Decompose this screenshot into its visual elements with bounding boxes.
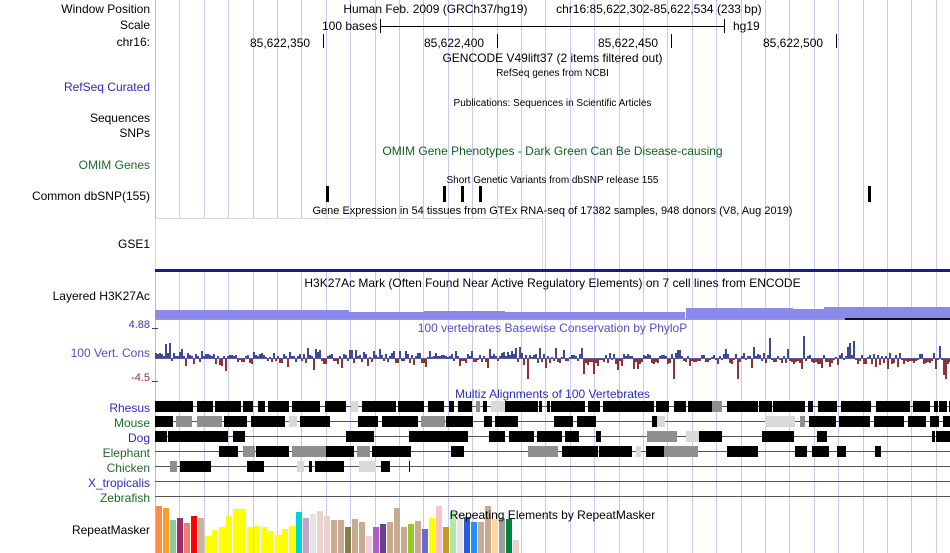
phylop-positive-bar bbox=[351, 350, 353, 358]
multiz-align-block bbox=[795, 446, 807, 457]
gtex-tissue-bar[interactable] bbox=[212, 530, 218, 553]
multiz-align-block bbox=[358, 416, 378, 427]
track-label-omim-genes[interactable]: OMIM Genes bbox=[0, 159, 150, 172]
multiz-align-block bbox=[197, 416, 222, 427]
phylop-positive-bar bbox=[563, 350, 565, 358]
ruler-tickmark-2 bbox=[671, 34, 672, 48]
h3k27ac-baseline bbox=[155, 319, 950, 320]
phylop-positive-bar bbox=[921, 354, 923, 358]
gtex-tissue-bar[interactable] bbox=[471, 522, 477, 553]
multiz-align-block bbox=[777, 416, 795, 427]
phylop-positive-bar bbox=[861, 355, 863, 358]
phylop-positive-bar bbox=[369, 357, 371, 358]
multiz-gap-line bbox=[155, 466, 950, 467]
multiz-align-block bbox=[495, 416, 518, 427]
gtex-tissue-bar[interactable] bbox=[324, 516, 330, 553]
phylop-negative-bar bbox=[383, 359, 385, 361]
phylop-negative-bar bbox=[367, 359, 369, 366]
multiz-align-block bbox=[440, 431, 468, 442]
multiz-align-block bbox=[727, 446, 758, 457]
phylop-negative-bar bbox=[477, 359, 479, 360]
phylop-positive-bar bbox=[551, 357, 553, 358]
phylop-negative-bar bbox=[387, 359, 389, 362]
track-title-gtex[interactable]: Gene Expression in 54 tissues from GTEx … bbox=[155, 205, 950, 217]
gtex-tissue-bar[interactable] bbox=[338, 520, 344, 553]
ruler-tickmark-3 bbox=[836, 34, 837, 48]
phylop-negative-bar bbox=[541, 359, 543, 362]
phylop-negative-bar bbox=[887, 359, 889, 369]
phylop-negative-bar bbox=[215, 359, 217, 364]
multiz-align-block bbox=[647, 431, 677, 442]
phylop-positive-bar bbox=[457, 356, 459, 358]
multiz-align-block bbox=[381, 461, 390, 472]
track-label-repeatmasker[interactable]: RepeatMasker bbox=[0, 524, 150, 537]
phylop-negative-bar bbox=[657, 359, 659, 363]
phylop-negative-bar bbox=[673, 359, 675, 379]
gtex-tissue-bar[interactable] bbox=[408, 524, 414, 553]
multiz-align-block bbox=[686, 431, 699, 442]
phylop-negative-bar bbox=[199, 359, 201, 362]
multiz-row-chicken[interactable] bbox=[155, 461, 950, 472]
multiz-align-block bbox=[483, 401, 487, 412]
multiz-align-block bbox=[233, 431, 245, 442]
phylop-negative-bar bbox=[883, 359, 885, 363]
phylop-positive-bar bbox=[719, 356, 721, 358]
h3k27ac-black-bar bbox=[845, 318, 950, 320]
phylop-negative-bar bbox=[805, 359, 807, 361]
multiz-align-block bbox=[817, 431, 827, 442]
track-title-omim[interactable]: OMIM Gene Phenotypes - Dark Green Can Be… bbox=[155, 145, 950, 157]
phylop-negative-bar bbox=[733, 359, 735, 360]
phylop-positive-bar bbox=[575, 356, 577, 358]
multiz-align-block bbox=[300, 416, 330, 427]
multiz-species-label-elephant[interactable]: Elephant bbox=[0, 447, 150, 460]
phylop-negative-bar bbox=[821, 359, 823, 368]
phylop-negative-bar bbox=[603, 359, 605, 362]
phylop-negative-bar bbox=[559, 359, 561, 363]
multiz-align-block bbox=[170, 461, 177, 472]
phylop-negative-bar bbox=[549, 359, 551, 363]
gtex-tissue-bar[interactable] bbox=[219, 527, 225, 553]
multiz-align-block bbox=[939, 401, 947, 412]
multiz-align-block bbox=[315, 461, 344, 472]
phylop-axis-min: -4.5 bbox=[112, 372, 150, 384]
track-title-dbsnp[interactable]: Short Genetic Variants from dbSNP releas… bbox=[155, 175, 950, 187]
phylop-positive-bar bbox=[183, 356, 185, 358]
multiz-align-block bbox=[357, 446, 370, 457]
gtex-tissue-bar[interactable] bbox=[268, 531, 274, 553]
track-title-phylop[interactable]: 100 vertebrates Basewise Conservation by… bbox=[155, 322, 950, 334]
multiz-align-block bbox=[699, 431, 722, 442]
gtex-tissue-bar[interactable] bbox=[415, 521, 421, 553]
phylop-negative-bar bbox=[337, 359, 339, 364]
multiz-align-block bbox=[458, 401, 472, 412]
phylop-positive-bar bbox=[495, 356, 497, 358]
multiz-align-block bbox=[491, 401, 505, 412]
phylop-positive-bar bbox=[877, 355, 879, 358]
phylop-negative-bar bbox=[761, 359, 763, 361]
multiz-align-block bbox=[489, 431, 505, 442]
ruler-tick-1: 85,622,400 bbox=[424, 36, 484, 50]
gtex-tissue-bar[interactable] bbox=[429, 518, 435, 553]
gtex-tissue-bar[interactable] bbox=[513, 540, 519, 553]
track-subtitle-refseq: RefSeq genes from NCBI bbox=[155, 68, 950, 80]
multiz-align-block bbox=[289, 416, 297, 427]
scale-bar bbox=[380, 26, 724, 27]
multiz-align-block bbox=[446, 416, 473, 427]
track-label-layered-h3k27ac[interactable]: Layered H3K27Ac bbox=[0, 290, 150, 303]
phylop-negative-bar bbox=[837, 359, 839, 365]
gtex-tissue-bar[interactable] bbox=[303, 518, 309, 553]
multiz-align-block bbox=[762, 431, 794, 442]
multiz-align-block bbox=[325, 401, 346, 412]
track-label-100-vert-cons[interactable]: 100 Vert. Cons bbox=[0, 347, 150, 360]
multiz-align-block bbox=[155, 401, 166, 412]
phylop-positive-bar bbox=[293, 356, 295, 358]
phylop-positive-bar bbox=[521, 353, 523, 358]
gtex-tissue-bar[interactable] bbox=[422, 529, 428, 553]
multiz-align-block bbox=[428, 401, 444, 412]
phylop-conservation-plot[interactable] bbox=[155, 334, 950, 379]
phylop-positive-bar bbox=[213, 354, 215, 358]
ruler-tickmark-0 bbox=[323, 34, 324, 48]
gtex-tissue-bar[interactable] bbox=[261, 527, 267, 553]
phylop-positive-bar bbox=[483, 356, 485, 358]
multiz-align-block bbox=[243, 401, 253, 412]
gtex-tissue-bar[interactable] bbox=[380, 524, 386, 553]
multiz-row-elephant[interactable] bbox=[155, 446, 950, 457]
gtex-tissue-bar[interactable] bbox=[506, 519, 512, 553]
track-title-publications[interactable]: Publications: Sequences in Scientific Ar… bbox=[155, 98, 950, 110]
multiz-row-mouse[interactable] bbox=[155, 416, 950, 427]
phylop-positive-bar bbox=[535, 354, 537, 358]
scale-db: hg19 bbox=[733, 19, 760, 33]
multiz-row-x_tropicalis[interactable] bbox=[155, 476, 950, 487]
phylop-positive-bar bbox=[769, 338, 771, 358]
phylop-positive-bar bbox=[631, 356, 633, 358]
phylop-negative-bar bbox=[931, 359, 933, 361]
gtex-tissue-bar[interactable] bbox=[226, 516, 232, 553]
phylop-positive-bar bbox=[399, 351, 401, 358]
phylop-positive-bar bbox=[933, 353, 935, 358]
phylop-negative-bar bbox=[497, 359, 499, 361]
gtex-tissue-bar[interactable] bbox=[247, 527, 253, 553]
phylop-positive-bar bbox=[217, 356, 219, 358]
phylop-negative-bar bbox=[413, 359, 415, 365]
track-title-gencode[interactable]: GENCODE V49lift37 (2 items filtered out) bbox=[155, 52, 950, 64]
multiz-align-block bbox=[562, 446, 598, 457]
multiz-align-block bbox=[390, 446, 411, 457]
phylop-positive-bar bbox=[285, 356, 287, 358]
multiz-align-block bbox=[727, 401, 758, 412]
phylop-negative-bar bbox=[225, 359, 227, 371]
phylop-positive-bar bbox=[381, 355, 383, 358]
multiz-align-block bbox=[359, 461, 376, 472]
gtex-tissue-bar[interactable] bbox=[205, 536, 211, 553]
phylop-positive-bar bbox=[525, 355, 527, 358]
multiz-align-block bbox=[636, 446, 641, 457]
track-label-common-dbsnp[interactable]: Common dbSNP(155) bbox=[0, 190, 150, 203]
phylop-positive-bar bbox=[277, 356, 279, 358]
phylop-positive-bar bbox=[471, 351, 473, 358]
track-title-multiz[interactable]: Multiz Alignments of 100 Vertebrates bbox=[155, 388, 950, 400]
phylop-positive-bar bbox=[555, 348, 557, 358]
phylop-positive-bar bbox=[419, 353, 421, 358]
track-label-gse1[interactable]: GSE1 bbox=[0, 238, 150, 251]
h3k27ac-signal bbox=[155, 305, 950, 319]
track-label-sequences[interactable]: Sequences bbox=[0, 112, 150, 125]
multiz-align-block bbox=[247, 461, 264, 472]
h3k27ac-segment bbox=[793, 309, 824, 319]
phylop-positive-bar bbox=[515, 348, 517, 358]
multiz-align-block bbox=[812, 446, 829, 457]
phylop-positive-bar bbox=[763, 353, 765, 358]
gtex-tissue-bar[interactable] bbox=[366, 536, 372, 553]
phylop-positive-bar bbox=[735, 354, 737, 358]
gtex-tissue-bar[interactable] bbox=[254, 526, 260, 553]
multiz-align-block bbox=[943, 416, 950, 427]
track-title-repeatmasker[interactable]: Repeating Elements by RepeatMasker bbox=[155, 509, 950, 521]
phylop-negative-bar bbox=[397, 359, 399, 363]
phylop-negative-bar bbox=[171, 359, 173, 361]
gtex-tissue-bar[interactable] bbox=[275, 535, 281, 553]
phylop-positive-bar bbox=[451, 354, 453, 358]
multiz-species-label-rhesus[interactable]: Rhesus bbox=[0, 402, 150, 415]
phylop-positive-bar bbox=[319, 350, 321, 358]
multiz-align-block bbox=[773, 401, 805, 412]
phylop-positive-bar bbox=[889, 353, 891, 358]
gtex-baseline bbox=[155, 269, 950, 272]
multiz-align-block bbox=[251, 416, 285, 427]
phylop-positive-bar bbox=[169, 343, 171, 358]
multiz-align-block bbox=[808, 401, 813, 412]
phylop-positive-bar bbox=[809, 355, 811, 358]
multiz-align-block bbox=[309, 461, 312, 472]
gtex-tissue-bar[interactable] bbox=[499, 518, 505, 553]
scale-label: Scale bbox=[0, 19, 150, 32]
phylop-negative-bar bbox=[833, 359, 835, 360]
gtex-tissue-bar[interactable] bbox=[352, 519, 358, 553]
gtex-tissue-bar[interactable] bbox=[177, 518, 183, 553]
multiz-align-block bbox=[505, 401, 538, 412]
gtex-tissue-bar[interactable] bbox=[282, 529, 288, 553]
phylop-positive-bar bbox=[191, 356, 193, 358]
multiz-align-block bbox=[936, 416, 939, 427]
phylop-negative-bar bbox=[305, 359, 307, 363]
phylop-negative-bar bbox=[287, 359, 289, 367]
phylop-positive-bar bbox=[749, 356, 751, 358]
phylop-positive-bar bbox=[247, 355, 249, 358]
multiz-align-block bbox=[509, 431, 534, 442]
phylop-negative-bar bbox=[465, 359, 467, 363]
multiz-align-block bbox=[674, 401, 686, 412]
multiz-align-block bbox=[258, 401, 265, 412]
gtex-tissue-bar[interactable] bbox=[191, 516, 197, 553]
h3k27ac-segment bbox=[155, 310, 349, 319]
phylop-negative-bar bbox=[611, 359, 613, 360]
phylop-positive-bar bbox=[759, 355, 761, 358]
chrom-label: chr16: bbox=[0, 36, 150, 49]
phylop-positive-bar bbox=[385, 354, 387, 358]
multiz-row-dog[interactable] bbox=[155, 431, 950, 442]
multiz-align-block bbox=[528, 446, 558, 457]
gtex-tissue-bar[interactable] bbox=[373, 527, 379, 553]
ruler-tick-3: 85,622,500 bbox=[763, 36, 823, 50]
track-label-refseq-curated[interactable]: RefSeq Curated bbox=[0, 81, 150, 94]
multiz-align-block bbox=[839, 416, 870, 427]
phylop-positive-bar bbox=[411, 355, 413, 358]
multiz-align-block bbox=[362, 401, 396, 412]
phylop-negative-bar bbox=[517, 359, 519, 362]
phylop-negative-bar bbox=[669, 359, 671, 363]
phylop-positive-bar bbox=[345, 355, 347, 358]
phylop-negative-bar bbox=[717, 359, 719, 364]
multiz-align-block bbox=[759, 401, 772, 412]
phylop-negative-bar bbox=[537, 359, 539, 363]
multiz-gap-line bbox=[155, 481, 950, 482]
gtex-tissue-bar[interactable] bbox=[478, 522, 484, 553]
multiz-align-block bbox=[180, 461, 211, 472]
gtex-tissue-bar[interactable] bbox=[464, 517, 470, 553]
phylop-negative-bar bbox=[893, 359, 895, 363]
gtex-tissue-bar[interactable] bbox=[198, 518, 204, 553]
coordinates: chr16:85,622,302-85,622,534 (233 bp) bbox=[556, 2, 762, 16]
phylop-positive-bar bbox=[803, 336, 805, 358]
multiz-align-block bbox=[875, 446, 881, 457]
track-label-snps[interactable]: SNPs bbox=[0, 127, 150, 140]
phylop-negative-bar bbox=[879, 359, 881, 365]
multiz-align-block bbox=[936, 431, 950, 442]
phylop-positive-bar bbox=[681, 356, 683, 358]
phylop-negative-bar bbox=[295, 359, 297, 362]
phylop-negative-bar bbox=[341, 359, 343, 368]
gtex-tissue-bar[interactable] bbox=[492, 519, 498, 553]
phylop-negative-bar bbox=[597, 359, 599, 366]
phylop-negative-bar bbox=[425, 359, 427, 367]
multiz-species-label-zebrafish[interactable]: Zebrafish bbox=[0, 492, 150, 505]
phylop-negative-bar bbox=[527, 359, 529, 379]
scale-value: 100 bases bbox=[322, 19, 377, 33]
multiz-align-block bbox=[588, 401, 600, 412]
multiz-align-block bbox=[712, 401, 722, 412]
phylop-positive-bar bbox=[787, 349, 789, 358]
phylop-positive-bar bbox=[265, 357, 267, 358]
multiz-align-block bbox=[176, 416, 192, 427]
gtex-tissue-bar[interactable] bbox=[289, 526, 295, 553]
phylop-negative-bar bbox=[641, 359, 643, 362]
phylop-axis-max-tick bbox=[152, 328, 158, 329]
multiz-align-block bbox=[409, 431, 440, 442]
multiz-align-block bbox=[874, 416, 904, 427]
multiz-align-block bbox=[554, 416, 573, 427]
phylop-positive-bar bbox=[543, 354, 545, 358]
gtex-tissue-bar[interactable] bbox=[345, 527, 351, 553]
gtex-tissue-bar[interactable] bbox=[443, 527, 449, 553]
multiz-align-block bbox=[421, 416, 445, 427]
multiz-row-zebrafish[interactable] bbox=[155, 491, 950, 502]
phylop-negative-bar bbox=[737, 359, 739, 379]
multiz-align-block bbox=[155, 431, 167, 442]
multiz-align-block bbox=[656, 401, 669, 412]
multiz-row-rhesus[interactable] bbox=[155, 401, 950, 412]
phylop-negative-bar bbox=[193, 359, 195, 364]
phylop-negative-bar bbox=[301, 359, 303, 361]
phylop-negative-bar bbox=[453, 359, 455, 361]
multiz-align-block bbox=[577, 416, 596, 427]
gtex-tissue-bar[interactable] bbox=[401, 527, 407, 553]
phylop-positive-bar bbox=[539, 348, 541, 358]
phylop-negative-bar bbox=[937, 359, 939, 360]
multiz-align-block bbox=[664, 446, 698, 457]
phylop-positive-bar bbox=[273, 353, 275, 358]
multiz-align-block bbox=[256, 446, 289, 457]
gtex-tissue-bar[interactable] bbox=[331, 520, 337, 553]
phylop-negative-bar bbox=[781, 359, 783, 363]
phylop-positive-bar bbox=[393, 351, 395, 358]
gtex-tissue-bar[interactable] bbox=[170, 520, 176, 553]
multiz-align-block bbox=[539, 401, 542, 412]
multiz-align-block bbox=[476, 401, 480, 412]
multiz-align-block bbox=[224, 416, 247, 427]
phylop-negative-bar bbox=[523, 359, 525, 365]
phylop-negative-bar bbox=[699, 359, 701, 361]
multiz-align-block bbox=[818, 401, 837, 412]
phylop-positive-bar bbox=[881, 356, 883, 358]
phylop-positive-bar bbox=[613, 354, 615, 358]
phylop-positive-bar bbox=[869, 355, 871, 358]
phylop-positive-bar bbox=[235, 355, 237, 358]
phylop-negative-bar bbox=[865, 359, 867, 364]
multiz-align-block bbox=[537, 431, 562, 442]
track-title-h3k27ac[interactable]: H3K27Ac Mark (Often Found Near Active Re… bbox=[155, 277, 950, 289]
multiz-align-block bbox=[932, 431, 935, 442]
multiz-species-label-chicken[interactable]: Chicken bbox=[0, 462, 150, 475]
gtex-tissue-bar[interactable] bbox=[184, 523, 190, 553]
multiz-align-block bbox=[155, 416, 173, 427]
multiz-align-block bbox=[292, 446, 326, 457]
multiz-align-block bbox=[565, 431, 579, 442]
phylop-positive-bar bbox=[899, 353, 901, 358]
multiz-species-label-mouse[interactable]: Mouse bbox=[0, 417, 150, 430]
phylop-positive-bar bbox=[407, 354, 409, 358]
phylop-negative-bar bbox=[403, 359, 405, 361]
phylop-positive-bar bbox=[547, 356, 549, 358]
multiz-species-label-x_tropicalis[interactable]: X_tropicalis bbox=[0, 477, 150, 490]
multiz-align-block bbox=[449, 401, 454, 412]
gtex-tissue-bar[interactable] bbox=[359, 522, 365, 553]
multiz-align-block bbox=[908, 416, 926, 427]
multiz-align-block bbox=[292, 401, 320, 412]
multiz-align-block bbox=[326, 446, 354, 457]
phylop-negative-bar bbox=[353, 359, 355, 363]
phylop-negative-bar bbox=[621, 359, 623, 366]
phylop-positive-bar bbox=[885, 356, 887, 358]
phylop-negative-bar bbox=[275, 359, 277, 361]
phylop-positive-bar bbox=[783, 356, 785, 358]
phylop-negative-bar bbox=[567, 359, 569, 361]
gtex-chart-frame bbox=[155, 218, 543, 270]
phylop-positive-bar bbox=[339, 356, 341, 358]
multiz-align-block bbox=[809, 416, 836, 427]
multiz-align-block bbox=[547, 401, 550, 412]
assembly-position-line: Human Feb. 2009 (GRCh37/hg19) chr16:85,6… bbox=[155, 3, 950, 15]
multiz-species-label-dog[interactable]: Dog bbox=[0, 432, 150, 445]
phylop-negative-bar bbox=[577, 359, 579, 361]
phylop-negative-bar bbox=[739, 359, 741, 362]
phylop-negative-bar bbox=[553, 359, 555, 361]
phylop-negative-bar bbox=[313, 359, 315, 370]
gtex-tissue-bar[interactable] bbox=[387, 522, 393, 553]
